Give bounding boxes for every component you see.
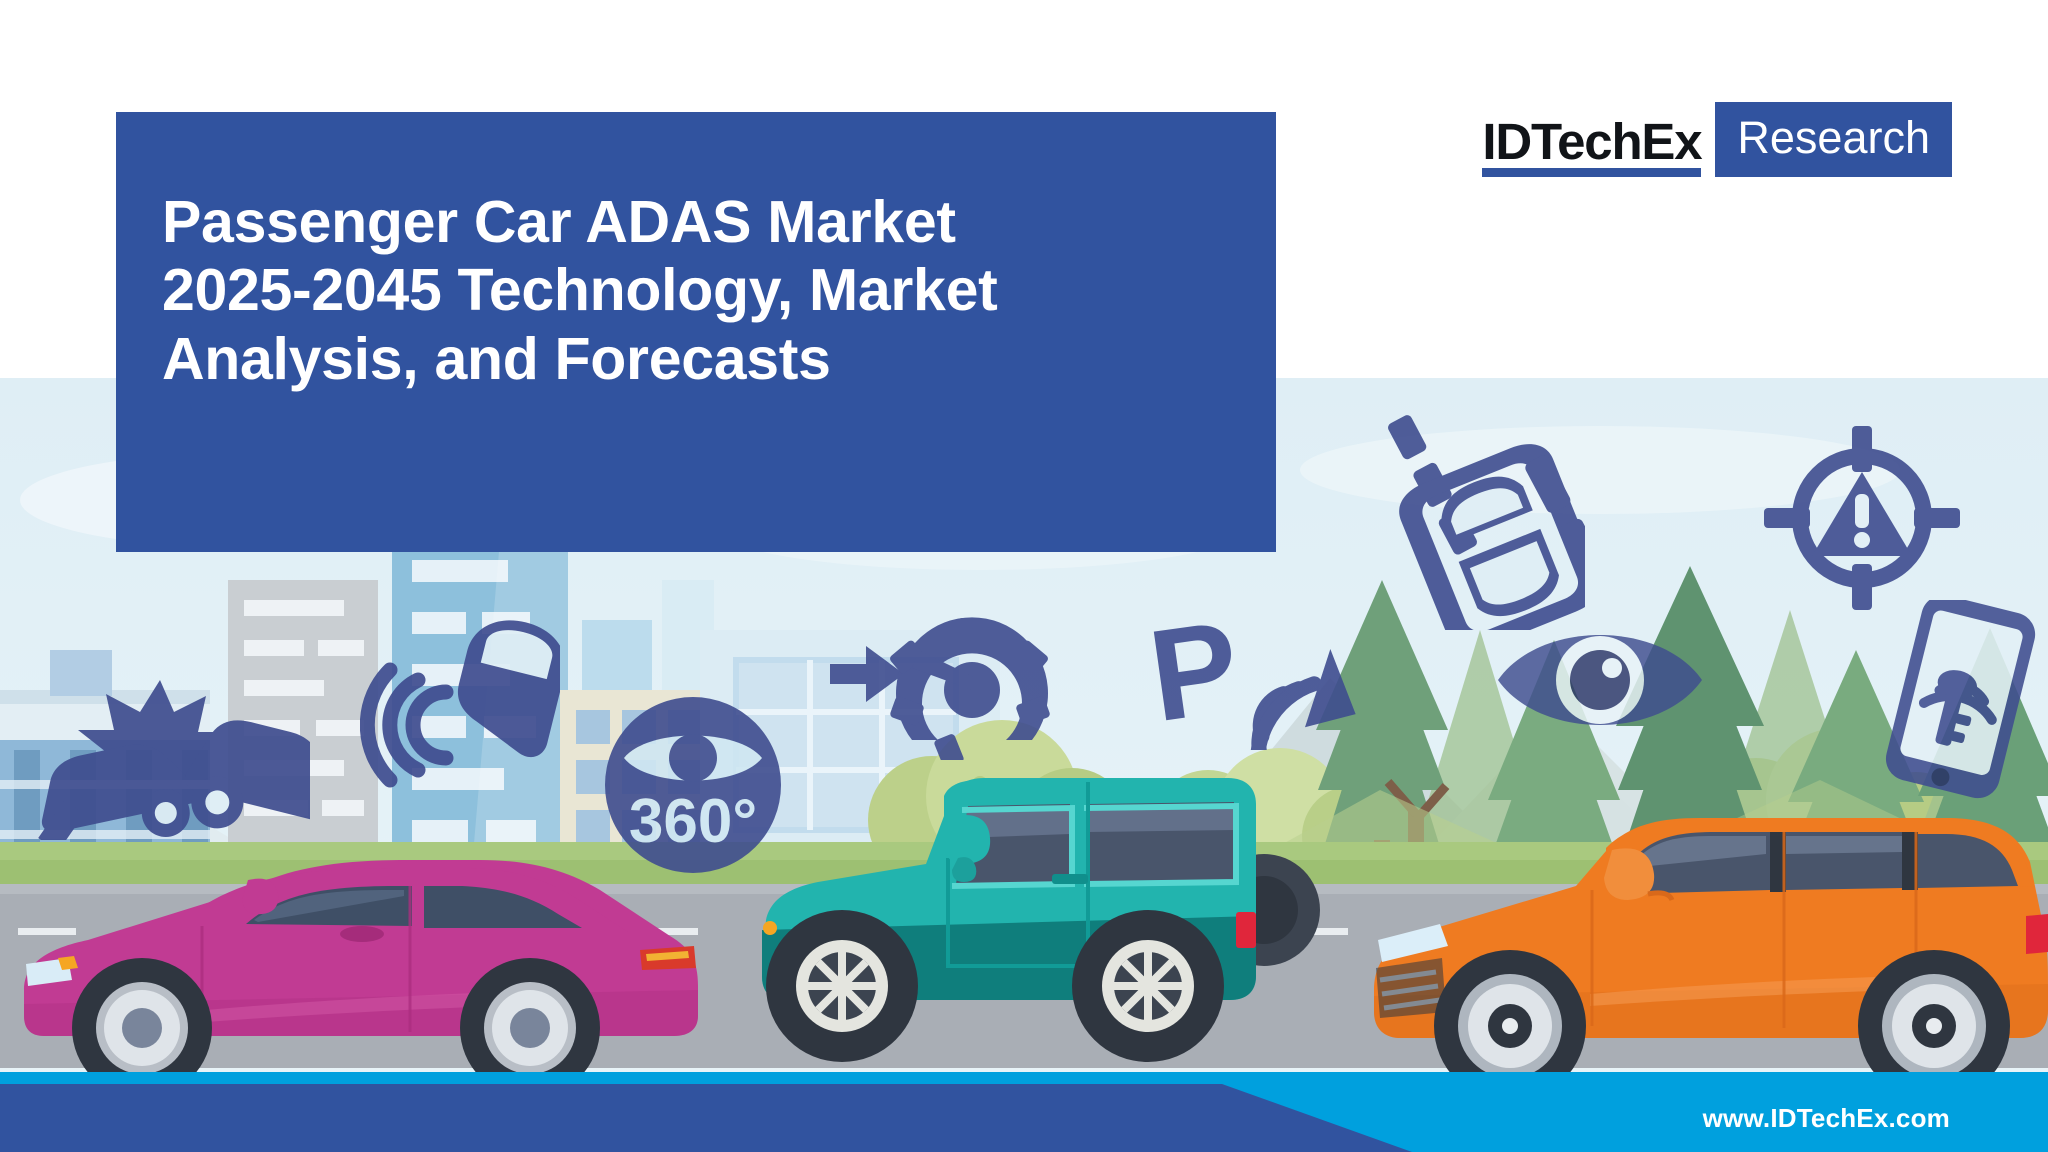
title-line-2: 2025-2045 Technology, Market — [162, 256, 1242, 324]
idtechex-logo[interactable]: IDTechEx Research — [1482, 102, 1952, 177]
vehicle-suv — [740, 730, 1340, 1090]
title-block: Passenger Car ADAS Market 2025-2045 Tech… — [116, 112, 1276, 552]
logo-wordmark-text: IDTechEx — [1482, 116, 1701, 167]
adaptive-cruise-control-icon — [830, 590, 1060, 760]
parking-sensor-icon — [360, 600, 560, 820]
report-cover: 360° P — [0, 0, 2048, 1152]
logo-underline — [1482, 168, 1701, 177]
vehicle-sedan — [10, 840, 700, 1090]
digital-key-phone-icon — [1880, 600, 2048, 800]
park-assist-icon: P — [1140, 590, 1370, 750]
page-title: Passenger Car ADAS Market 2025-2045 Tech… — [162, 188, 1242, 393]
lane-departure-icon — [1345, 415, 1585, 630]
vehicle-station-wagon — [1350, 790, 2048, 1090]
title-line-1: Passenger Car ADAS Market — [162, 188, 1242, 256]
collision-warning-target-icon — [1762, 420, 1962, 610]
park-assist-label: P — [1141, 593, 1247, 750]
surround-view-label: 360° — [629, 787, 757, 856]
collision-icon — [10, 670, 310, 840]
footer-url[interactable]: www.IDTechEx.com — [1703, 1103, 1950, 1134]
surround-view-360-icon: 360° — [598, 690, 788, 880]
logo-wordmark: IDTechEx — [1482, 116, 1701, 177]
logo-research-badge: Research — [1715, 102, 1952, 177]
title-line-3: Analysis, and Forecasts — [162, 325, 1242, 393]
driver-monitoring-eye-icon — [1490, 610, 1710, 750]
